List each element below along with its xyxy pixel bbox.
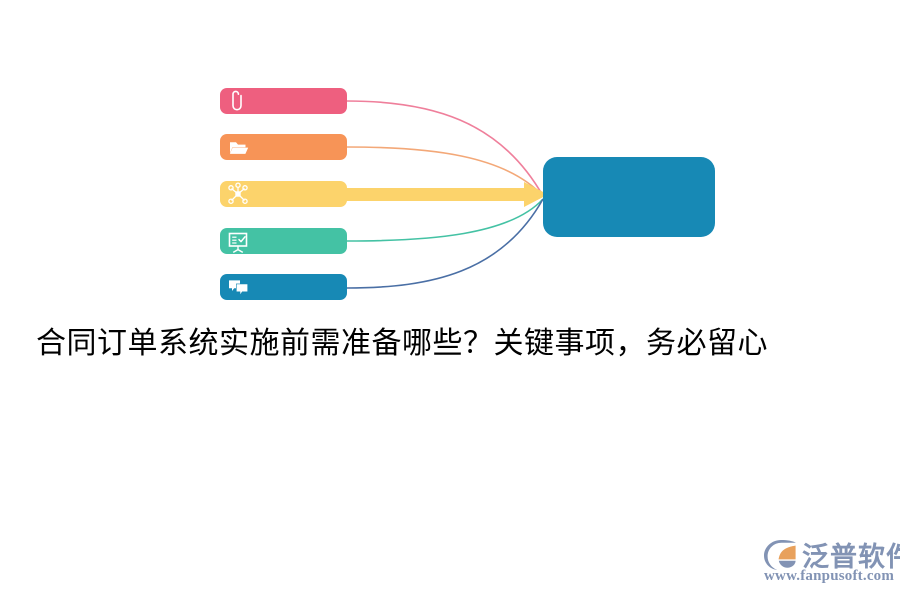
page-title: 合同订单系统实施前需准备哪些？关键事项，务必留心 <box>36 322 866 366</box>
flow-item-network[interactable] <box>220 181 347 207</box>
connector-line-presentation <box>347 199 543 241</box>
target-box[interactable] <box>543 157 715 237</box>
emphasis-arrow <box>340 182 548 207</box>
flow-item-attachment[interactable] <box>220 88 347 114</box>
fanpu-logo-mark <box>762 538 800 572</box>
flow-item-documents[interactable] <box>220 134 347 160</box>
connector-line-attachment <box>347 101 543 196</box>
flow-item-presentation[interactable] <box>220 228 347 254</box>
brand-url: www.fanpusoft.com <box>764 568 894 585</box>
slide-canvas: 合同订单系统实施前需准备哪些？关键事项，务必留心 泛普软件 www.fanpus… <box>0 0 900 600</box>
flow-item-communication[interactable] <box>220 274 347 300</box>
brand-logo: 泛普软件 www.fanpusoft.com <box>762 535 892 591</box>
connector-line-communication <box>347 199 543 288</box>
diagram-graphic <box>0 0 900 600</box>
